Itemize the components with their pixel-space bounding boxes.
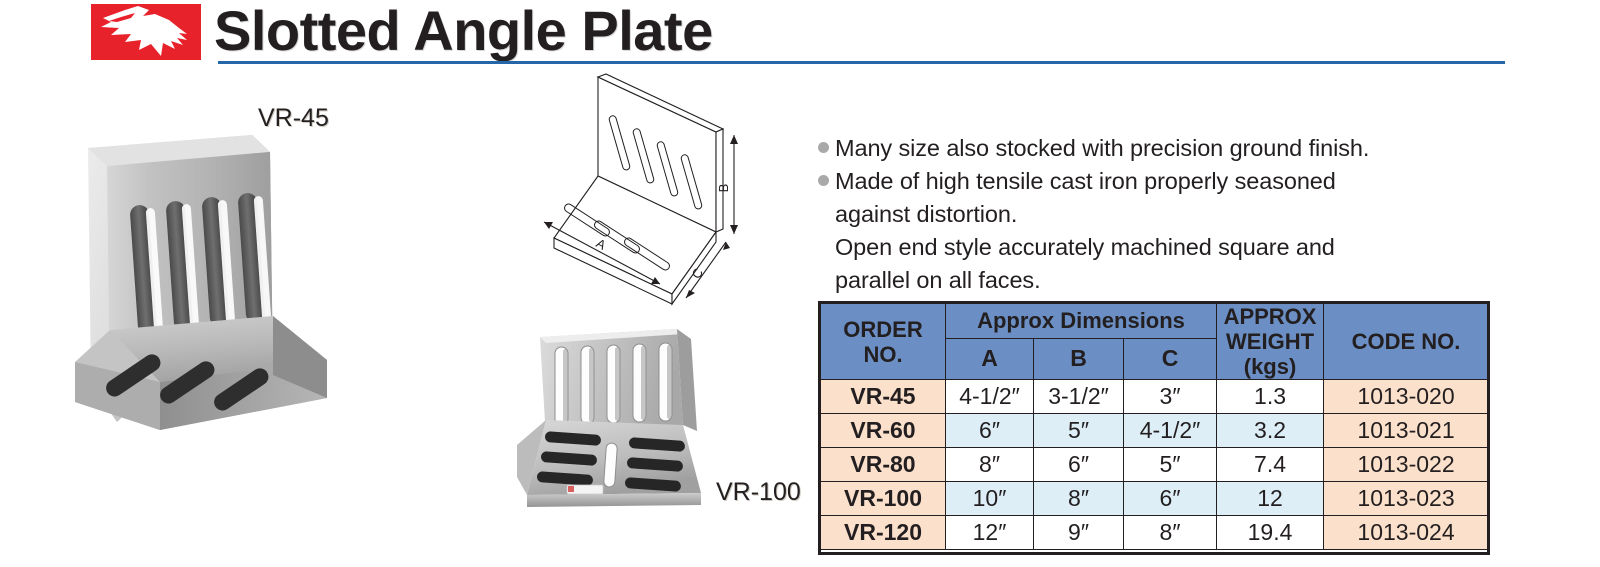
feature-text: against distortion. bbox=[835, 198, 1017, 230]
bullet-dot-icon bbox=[818, 142, 829, 153]
cell-order-no: VR-120 bbox=[821, 516, 946, 550]
cell-dim-b: 5″ bbox=[1034, 414, 1124, 448]
table-row: VR-80 8″ 6″ 5″ 7.4 1013-022 bbox=[821, 448, 1489, 482]
cell-code-no: 1013-020 bbox=[1324, 380, 1489, 414]
header-dim-c: C bbox=[1124, 338, 1217, 379]
header-dim-a: A bbox=[946, 338, 1034, 379]
table-row: VR-45 4-1/2″ 3-1/2″ 3″ 1.3 1013-020 bbox=[821, 380, 1489, 414]
cell-code-no: 1013-024 bbox=[1324, 516, 1489, 550]
feature-item: Made of high tensile cast iron properly … bbox=[818, 165, 1488, 197]
page-title: Slotted Angle Plate bbox=[214, 0, 713, 64]
cell-order-no: VR-80 bbox=[821, 448, 946, 482]
feature-item: parallel on all faces. bbox=[818, 264, 1488, 296]
eagle-head-logo-icon bbox=[91, 4, 201, 60]
feature-list: Many size also stocked with precision gr… bbox=[818, 132, 1488, 297]
specification-table: ORDER NO. Approx Dimensions APPROX WEIGH… bbox=[820, 303, 1489, 550]
cell-dim-b: 6″ bbox=[1034, 448, 1124, 482]
cell-dim-c: 6″ bbox=[1124, 482, 1217, 516]
product-label-vr-45: VR-45 bbox=[258, 104, 329, 133]
cell-dim-b: 8″ bbox=[1034, 482, 1124, 516]
cell-order-no: VR-45 bbox=[821, 380, 946, 414]
cell-dim-b: 3-1/2″ bbox=[1034, 380, 1124, 414]
bullet-dot-icon bbox=[818, 175, 829, 186]
cell-dim-b: 9″ bbox=[1034, 516, 1124, 550]
cell-dim-a: 6″ bbox=[946, 414, 1034, 448]
feature-text: Made of high tensile cast iron properly … bbox=[835, 165, 1336, 197]
feature-item: Many size also stocked with precision gr… bbox=[818, 132, 1488, 164]
page-header: Slotted Angle Plate bbox=[0, 0, 1600, 78]
cell-code-no: 1013-021 bbox=[1324, 414, 1489, 448]
cell-dim-a: 10″ bbox=[946, 482, 1034, 516]
product-label-vr-100: VR-100 bbox=[716, 478, 801, 507]
cell-weight: 19.4 bbox=[1217, 516, 1324, 550]
feature-text: parallel on all faces. bbox=[835, 264, 1041, 296]
cell-weight: 1.3 bbox=[1217, 380, 1324, 414]
cell-code-no: 1013-023 bbox=[1324, 482, 1489, 516]
cell-dim-a: 12″ bbox=[946, 516, 1034, 550]
cell-dim-c: 3″ bbox=[1124, 380, 1217, 414]
header-approx-weight: APPROX WEIGHT (kgs) bbox=[1217, 304, 1324, 380]
cell-dim-a: 8″ bbox=[946, 448, 1034, 482]
cell-code-no: 1013-022 bbox=[1324, 448, 1489, 482]
title-underline-rule bbox=[218, 61, 1505, 64]
cell-order-no: VR-60 bbox=[821, 414, 946, 448]
bullet-spacer bbox=[818, 208, 829, 219]
feature-text: Open end style accurately machined squar… bbox=[835, 231, 1335, 263]
feature-text: Many size also stocked with precision gr… bbox=[835, 132, 1369, 164]
table-row: VR-120 12″ 9″ 8″ 19.4 1013-024 bbox=[821, 516, 1489, 550]
feature-item: against distortion. bbox=[818, 198, 1488, 230]
header-code-no: CODE NO. bbox=[1324, 304, 1489, 380]
header-dim-b: B bbox=[1034, 338, 1124, 379]
cell-dim-a: 4-1/2″ bbox=[946, 380, 1034, 414]
table-row: VR-60 6″ 5″ 4-1/2″ 3.2 1013-021 bbox=[821, 414, 1489, 448]
cell-dim-c: 8″ bbox=[1124, 516, 1217, 550]
header-order-no: ORDER NO. bbox=[821, 304, 946, 380]
dimension-label-b: B bbox=[716, 184, 731, 193]
table-row: VR-100 10″ 8″ 6″ 12 1013-023 bbox=[821, 482, 1489, 516]
feature-item: Open end style accurately machined squar… bbox=[818, 231, 1488, 263]
table-header-row-1: ORDER NO. Approx Dimensions APPROX WEIGH… bbox=[821, 304, 1489, 339]
cell-dim-c: 4-1/2″ bbox=[1124, 414, 1217, 448]
cell-order-no: VR-100 bbox=[821, 482, 946, 516]
cell-weight: 3.2 bbox=[1217, 414, 1324, 448]
header-approx-dimensions: Approx Dimensions bbox=[946, 304, 1217, 339]
bullet-spacer bbox=[818, 274, 829, 285]
bullet-spacer bbox=[818, 241, 829, 252]
cell-weight: 7.4 bbox=[1217, 448, 1324, 482]
technical-line-drawing: A B C bbox=[520, 72, 755, 322]
cell-weight: 12 bbox=[1217, 482, 1324, 516]
product-photo-vr-45 bbox=[55, 130, 455, 510]
cell-dim-c: 5″ bbox=[1124, 448, 1217, 482]
product-photo-vr-100 bbox=[505, 325, 735, 525]
dimension-label-c: C bbox=[688, 265, 706, 281]
